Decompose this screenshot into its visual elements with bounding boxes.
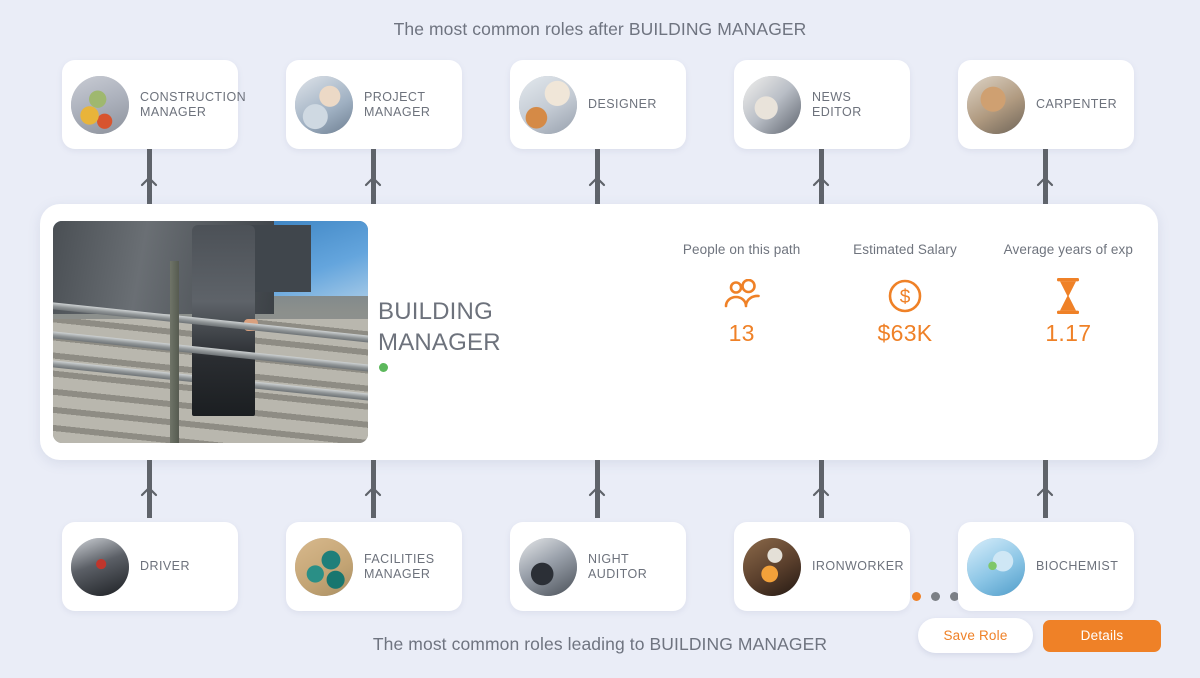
role-card-label: DESIGNER bbox=[588, 97, 657, 112]
role-card-top-4[interactable]: CARPENTER bbox=[958, 60, 1134, 149]
role-card-label: BIOCHEMIST bbox=[1036, 559, 1118, 574]
career-path-visualization: The most common roles after BUILDING MAN… bbox=[0, 0, 1200, 678]
role-card-label: CONSTRUCTION MANAGER bbox=[140, 90, 246, 120]
role-card-label: PROJECT MANAGER bbox=[364, 90, 430, 120]
project-manager-avatar bbox=[295, 76, 353, 134]
pagination-dot-2[interactable] bbox=[931, 592, 940, 601]
role-label-line2: MANAGER bbox=[364, 567, 435, 582]
driver-avatar bbox=[71, 538, 129, 596]
role-title-line2: MANAGER bbox=[378, 327, 608, 358]
role-label-line2: AUDITOR bbox=[588, 567, 647, 582]
role-card-label: IRONWORKER bbox=[812, 559, 904, 574]
pagination-dots[interactable] bbox=[912, 592, 959, 601]
role-card-label: NEWS EDITOR bbox=[812, 90, 904, 120]
role-title-line1: BUILDING bbox=[378, 296, 608, 327]
arrow-up-icon bbox=[588, 175, 606, 187]
role-card-top-3[interactable]: NEWS EDITOR bbox=[734, 60, 910, 149]
arrow-up-icon bbox=[1036, 485, 1054, 497]
stat-average-years-exp: Average years of exp 1.17 bbox=[987, 242, 1150, 347]
stat-value: 1.17 bbox=[987, 320, 1150, 347]
stat-label: People on this path bbox=[660, 242, 823, 257]
role-label-line1: NIGHT bbox=[588, 552, 647, 567]
role-card-top-2[interactable]: DESIGNER bbox=[510, 60, 686, 149]
role-label-line1: IRONWORKER bbox=[812, 559, 904, 574]
arrow-up-icon bbox=[588, 485, 606, 497]
night-auditor-avatar bbox=[519, 538, 577, 596]
stat-label: Average years of exp bbox=[987, 242, 1150, 257]
role-label-line1: DRIVER bbox=[140, 559, 190, 574]
bottom-caption: The most common roles leading to BUILDIN… bbox=[0, 634, 1200, 655]
stat-value: 13 bbox=[660, 320, 823, 347]
arrow-up-icon bbox=[812, 175, 830, 187]
designer-avatar bbox=[519, 76, 577, 134]
role-label-line1: NEWS EDITOR bbox=[812, 90, 904, 120]
top-caption: The most common roles after BUILDING MAN… bbox=[0, 19, 1200, 40]
arrow-up-icon bbox=[812, 485, 830, 497]
role-label-line1: DESIGNER bbox=[588, 97, 657, 112]
role-card-top-0[interactable]: CONSTRUCTION MANAGER bbox=[62, 60, 238, 149]
arrow-up-icon bbox=[140, 175, 158, 187]
stat-people-on-path: People on this path 13 bbox=[660, 242, 823, 347]
stats-row: People on this path 13 Estimated Salary bbox=[660, 242, 1150, 347]
role-card-bottom-3[interactable]: IRONWORKER bbox=[734, 522, 910, 611]
biochemist-avatar bbox=[967, 538, 1025, 596]
role-card-top-1[interactable]: PROJECT MANAGER bbox=[286, 60, 462, 149]
role-card-bottom-0[interactable]: DRIVER bbox=[62, 522, 238, 611]
role-card-label: DRIVER bbox=[140, 559, 190, 574]
pagination-dot-1[interactable] bbox=[912, 592, 921, 601]
dollar-circle-icon: $ bbox=[823, 274, 986, 318]
construction-manager-avatar bbox=[71, 76, 129, 134]
role-card-label: FACILITIES MANAGER bbox=[364, 552, 435, 582]
carpenter-avatar bbox=[967, 76, 1025, 134]
hourglass-icon bbox=[987, 274, 1150, 318]
role-label-line1: BIOCHEMIST bbox=[1036, 559, 1118, 574]
role-card-bottom-4[interactable]: BIOCHEMIST bbox=[958, 522, 1134, 611]
role-label-line1: CONSTRUCTION bbox=[140, 90, 246, 105]
arrow-up-icon bbox=[364, 175, 382, 187]
arrow-up-icon bbox=[1036, 175, 1054, 187]
main-role-panel: BUILDING MANAGER People on this path 13 bbox=[40, 204, 1158, 460]
role-card-bottom-2[interactable]: NIGHT AUDITOR bbox=[510, 522, 686, 611]
facilities-manager-avatar bbox=[295, 538, 353, 596]
status-badge bbox=[379, 363, 388, 372]
svg-text:$: $ bbox=[900, 287, 911, 308]
page-title: BUILDING MANAGER bbox=[378, 296, 608, 358]
role-card-bottom-1[interactable]: FACILITIES MANAGER bbox=[286, 522, 462, 611]
role-label-line1: CARPENTER bbox=[1036, 97, 1117, 112]
ironworker-avatar bbox=[743, 538, 801, 596]
stat-value: $63K bbox=[823, 320, 986, 347]
role-hero-image bbox=[53, 221, 368, 443]
arrow-up-icon bbox=[364, 485, 382, 497]
news-editor-avatar bbox=[743, 76, 801, 134]
role-label-line2: MANAGER bbox=[140, 105, 246, 120]
role-label-line2: MANAGER bbox=[364, 105, 430, 120]
people-icon bbox=[660, 274, 823, 318]
stat-estimated-salary: Estimated Salary $ $63K bbox=[823, 242, 986, 347]
role-label-line1: PROJECT bbox=[364, 90, 430, 105]
arrow-up-icon bbox=[140, 485, 158, 497]
role-card-label: NIGHT AUDITOR bbox=[588, 552, 647, 582]
role-label-line1: FACILITIES bbox=[364, 552, 435, 567]
role-card-label: CARPENTER bbox=[1036, 97, 1117, 112]
stat-label: Estimated Salary bbox=[823, 242, 986, 257]
